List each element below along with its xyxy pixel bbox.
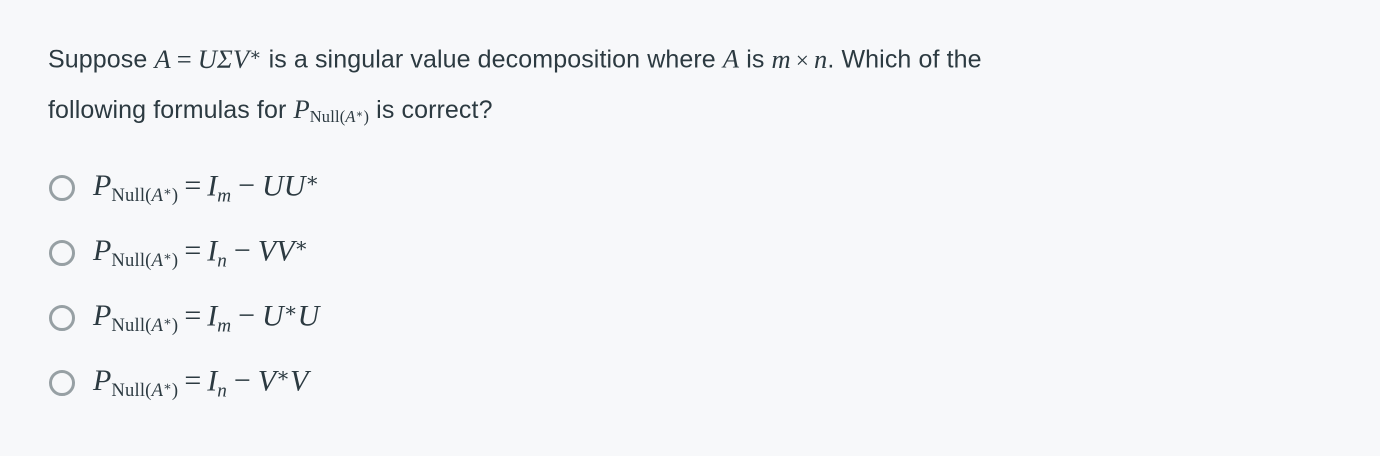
svd-expression: A=UΣV∗ bbox=[154, 44, 261, 74]
option-formula-1: PNull(A∗)=Im−UU∗ bbox=[93, 171, 319, 206]
question-line2-lead: following formulas for bbox=[48, 96, 286, 124]
question-tail-text: . Which of the bbox=[827, 46, 981, 74]
option-formula-2: PNull(A∗)=In−VV∗ bbox=[93, 236, 308, 271]
dimension-expression: m×n bbox=[772, 44, 828, 74]
question-is-text: is bbox=[746, 46, 764, 74]
answer-options-list: PNull(A∗)=Im−UU∗ PNull(A∗)=In−VV∗ PNull(… bbox=[48, 155, 1340, 415]
question-line2-tail: is correct? bbox=[376, 96, 492, 124]
projector-null-astar-symbol: PNull(A∗) bbox=[293, 94, 369, 124]
question-prompt: Suppose A=UΣV∗ is a singular value decom… bbox=[48, 30, 1340, 141]
radio-button-icon-2[interactable] bbox=[49, 240, 75, 266]
radio-button-icon-1[interactable] bbox=[49, 175, 75, 201]
option-formula-4: PNull(A∗)=In−V∗V bbox=[93, 366, 308, 401]
question-lead-text: Suppose bbox=[48, 46, 147, 74]
answer-option-2[interactable]: PNull(A∗)=In−VV∗ bbox=[48, 220, 1340, 285]
matrix-symbol-a: A bbox=[723, 44, 739, 74]
answer-option-4[interactable]: PNull(A∗)=In−V∗V bbox=[48, 350, 1340, 415]
radio-button-icon-3[interactable] bbox=[49, 305, 75, 331]
radio-button-icon-4[interactable] bbox=[49, 370, 75, 396]
option-formula-3: PNull(A∗)=Im−U∗U bbox=[93, 301, 319, 336]
answer-option-3[interactable]: PNull(A∗)=Im−U∗U bbox=[48, 285, 1340, 350]
answer-option-1[interactable]: PNull(A∗)=Im−UU∗ bbox=[48, 155, 1340, 220]
question-mid-text: is a singular value decomposition where bbox=[269, 46, 716, 74]
quiz-question-card: Suppose A=UΣV∗ is a singular value decom… bbox=[0, 0, 1380, 456]
